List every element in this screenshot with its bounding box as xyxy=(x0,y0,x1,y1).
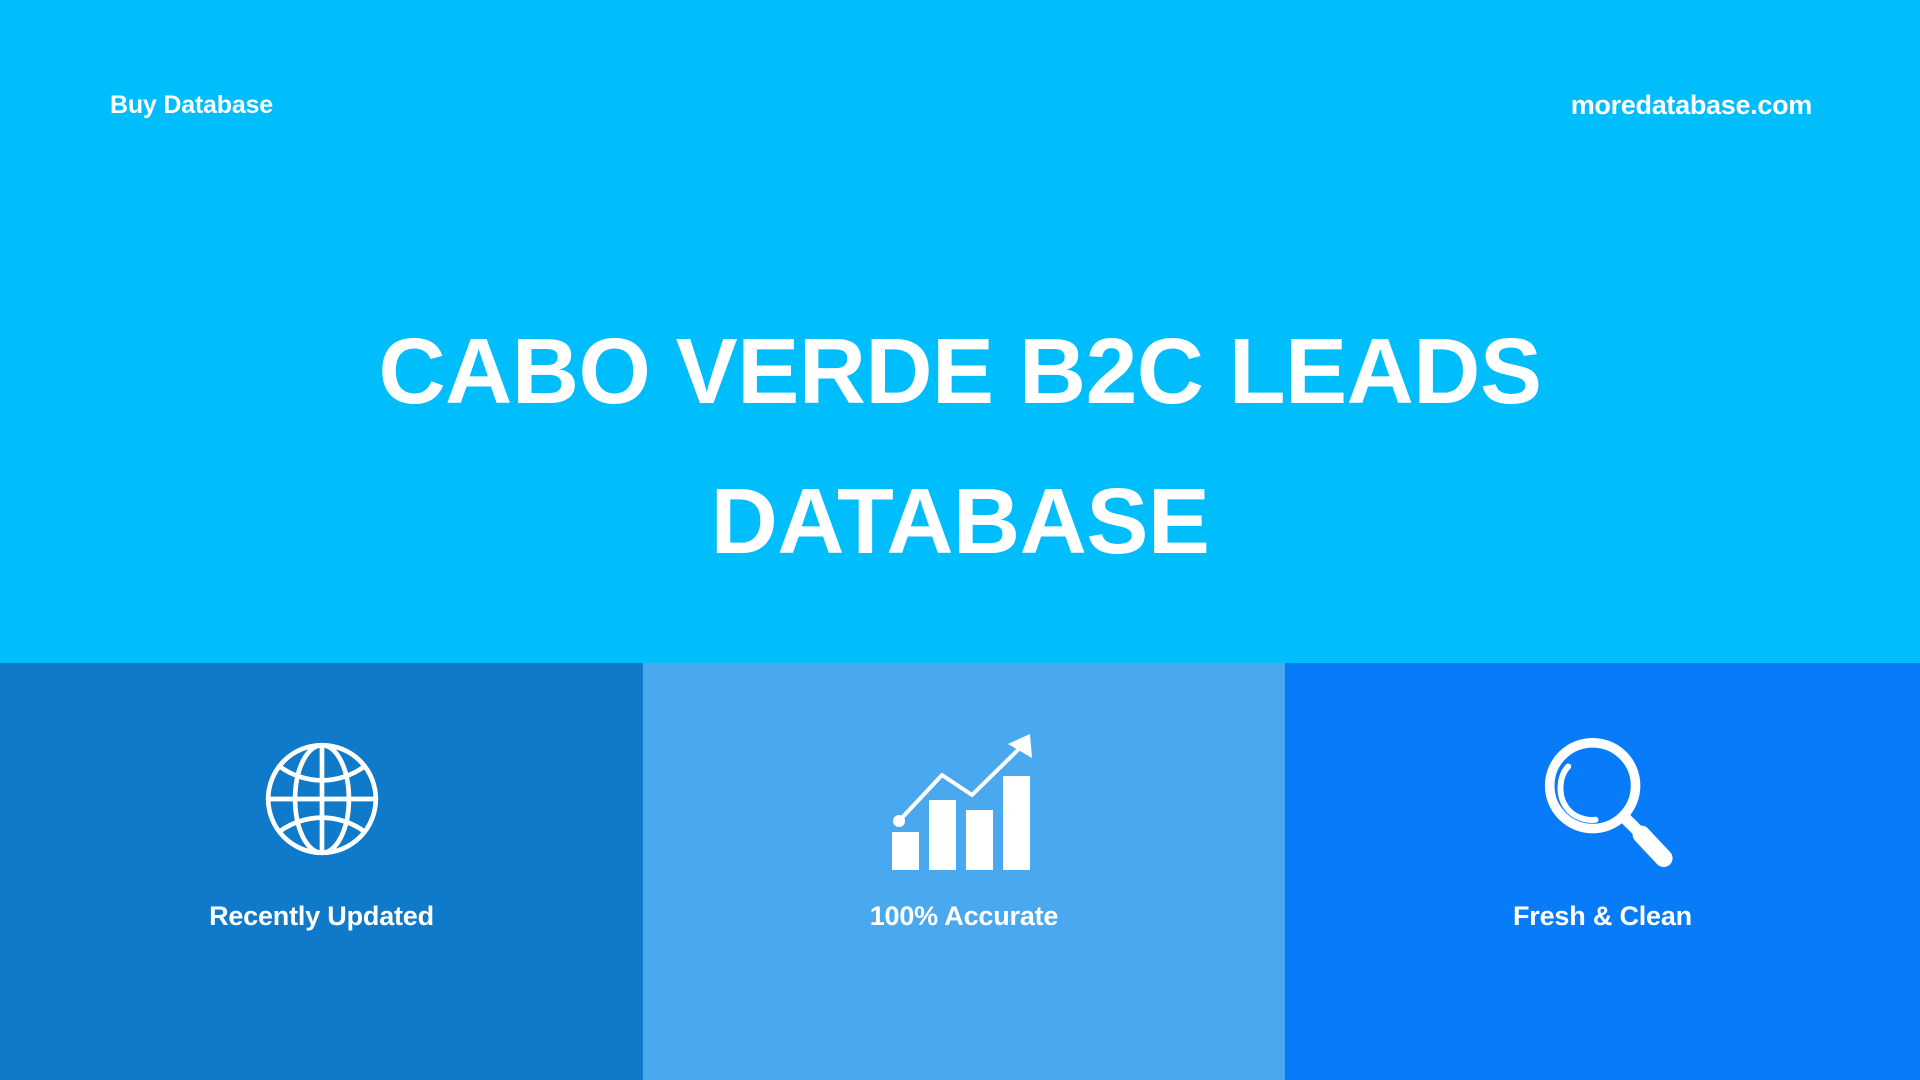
page-title-line-1: CABO VERDE B2C LEADS xyxy=(120,296,1800,446)
website-url-label: moredatabase.com xyxy=(1571,90,1812,121)
feature-panels: Recently Updated xyxy=(0,663,1920,1080)
feature-panel-accuracy: 100% Accurate xyxy=(643,663,1285,1080)
feature-label-accuracy: 100% Accurate xyxy=(870,901,1059,932)
feature-panel-fresh-clean: Fresh & Clean xyxy=(1285,663,1920,1080)
bar-chart-growth-icon xyxy=(884,725,1044,873)
magnifying-glass-icon xyxy=(1529,725,1677,873)
header-bar: Buy Database moredatabase.com xyxy=(0,0,1920,210)
brand-left-label: Buy Database xyxy=(110,91,273,120)
feature-label-recently-updated: Recently Updated xyxy=(209,901,434,932)
promo-banner: Buy Database moredatabase.com CABO VERDE… xyxy=(0,0,1920,1080)
page-title-line-2: DATABASE xyxy=(120,446,1800,596)
page-title: CABO VERDE B2C LEADS DATABASE xyxy=(0,296,1920,596)
hero-section: Buy Database moredatabase.com CABO VERDE… xyxy=(0,0,1920,663)
feature-panel-recently-updated: Recently Updated xyxy=(0,663,643,1080)
globe-icon xyxy=(253,725,391,873)
feature-label-fresh-clean: Fresh & Clean xyxy=(1513,901,1692,932)
